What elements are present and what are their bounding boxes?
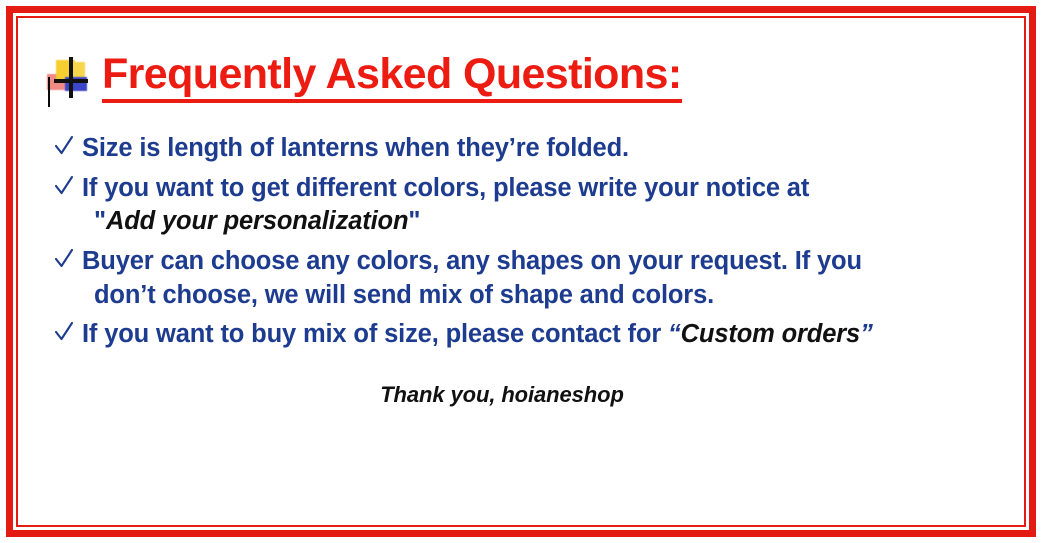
faq-list: Size is length of lanterns when they’re … bbox=[40, 132, 1002, 352]
quote-open-mark: " bbox=[94, 207, 106, 235]
check-icon bbox=[54, 135, 74, 157]
quote-open-mark: “ bbox=[668, 320, 681, 348]
list-item-line-1: If you want to buy mix of size, please c… bbox=[82, 320, 668, 348]
check-icon bbox=[54, 248, 74, 270]
emphasis-phrase: Custom orders bbox=[681, 320, 860, 348]
list-item: Buyer can choose any colors, any shapes … bbox=[40, 245, 1002, 312]
red-frame-outer: Frequently Asked Questions: Size is leng… bbox=[6, 6, 1036, 537]
list-item: If you want to get different colors, ple… bbox=[40, 172, 1002, 239]
list-item: Size is length of lanterns when they’re … bbox=[40, 132, 1002, 166]
quote-close-mark: " bbox=[408, 207, 420, 235]
list-item-line-2: don’t choose, we will send mix of shape … bbox=[82, 279, 1002, 313]
list-item-line-1: If you want to get different colors, ple… bbox=[82, 174, 809, 202]
red-frame-inner: Frequently Asked Questions: Size is leng… bbox=[16, 16, 1026, 527]
page-title: Frequently Asked Questions: bbox=[102, 53, 682, 103]
list-item-line-2: "Add your personalization" bbox=[82, 205, 1002, 239]
list-item-line-1: Size is length of lanterns when they’re … bbox=[82, 134, 629, 162]
check-icon bbox=[54, 321, 74, 343]
slide-content: Frequently Asked Questions: Size is leng… bbox=[18, 18, 1024, 525]
emphasis-phrase: Add your personalization bbox=[106, 207, 408, 235]
check-icon bbox=[54, 175, 74, 197]
marker-cross-horizontal bbox=[54, 79, 88, 83]
faq-slide: Frequently Asked Questions: Size is leng… bbox=[0, 0, 1042, 543]
list-item-line-1: Buyer can choose any colors, any shapes … bbox=[82, 247, 862, 275]
quote-close-mark: ” bbox=[860, 320, 873, 348]
marker-cross-vertical bbox=[69, 57, 73, 98]
text-cursor-caret bbox=[48, 77, 50, 107]
signature-text: Thank you, hoianeshop bbox=[40, 382, 1002, 408]
office-clipart-marker-icon bbox=[46, 57, 90, 101]
slide-header: Frequently Asked Questions: bbox=[40, 46, 1002, 110]
list-item: If you want to buy mix of size, please c… bbox=[40, 318, 1002, 352]
